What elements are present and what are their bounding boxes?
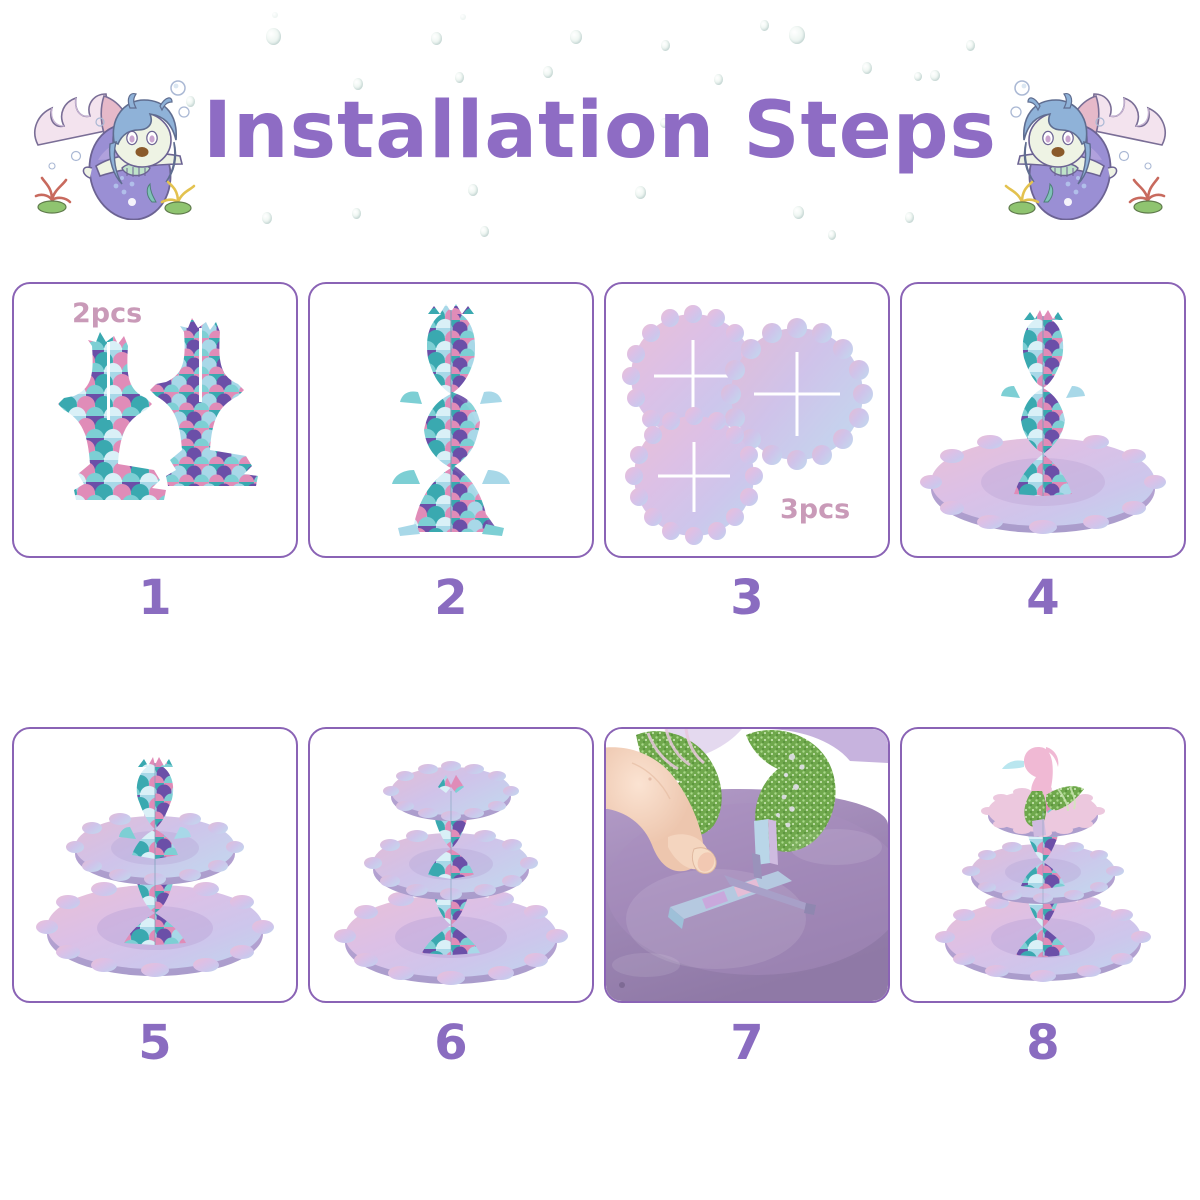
bubble-icon [262, 212, 272, 224]
bubble-icon [714, 74, 723, 85]
bubble-icon [455, 72, 464, 83]
bubble-icon [635, 186, 646, 199]
bubble-icon [862, 62, 872, 74]
step-5-card[interactable] [12, 727, 298, 1003]
column-on-base-plate-illustration [902, 284, 1184, 556]
bubble-icon [930, 70, 940, 81]
bubble-icon [266, 28, 281, 45]
bubble-icon [460, 14, 466, 20]
bubble-icon [661, 40, 670, 51]
two-column-pieces-illustration [14, 284, 296, 556]
bubble-icon [760, 20, 769, 31]
two-tier-stand-illustration [14, 729, 296, 1001]
step-8-number: 8 [900, 1019, 1186, 1067]
page-header: Installation Steps [0, 0, 1200, 270]
bubble-icon [272, 12, 278, 18]
step-4-card[interactable] [900, 282, 1186, 558]
bubble-icon [966, 40, 975, 51]
step-6-cell: 6 [308, 727, 594, 1003]
step-7-card[interactable] [604, 727, 890, 1003]
bubble-icon [543, 66, 553, 78]
bubble-icon [480, 226, 489, 237]
step-1-card[interactable]: 2pcs [12, 282, 298, 558]
bubble-icon [352, 208, 361, 219]
step-3-number: 3 [604, 574, 890, 622]
hand-inserting-topper-photo [606, 729, 888, 1001]
bubble-icon [828, 230, 836, 240]
bubble-icon [468, 184, 478, 196]
bubble-icon [789, 26, 805, 44]
bubble-icon [914, 72, 922, 81]
step-6-number: 6 [308, 1019, 594, 1067]
step-2-card[interactable] [308, 282, 594, 558]
bubble-icon [793, 206, 804, 219]
step-4-number: 4 [900, 574, 1186, 622]
step-1-cell: 2pcs 1 [12, 282, 298, 558]
step-3-card[interactable]: 3pcs [604, 282, 890, 558]
step-2-number: 2 [308, 574, 594, 622]
installation-steps-page: Installation Steps [0, 0, 1200, 1200]
step-5-cell: 5 [12, 727, 298, 1003]
bubble-icon [905, 212, 914, 223]
step-5-number: 5 [12, 1019, 298, 1067]
step-7-cell: 7 [604, 727, 890, 1003]
bubble-icon [431, 32, 442, 45]
step-6-card[interactable] [308, 727, 594, 1003]
step-3-pcs-label: 3pcs [780, 496, 850, 523]
finished-stand-illustration [902, 729, 1184, 1001]
page-title: Installation Steps [0, 92, 1200, 170]
assembled-column-illustration [310, 284, 592, 556]
step-7-number: 7 [604, 1019, 890, 1067]
step-4-cell: 4 [900, 282, 1186, 558]
step-8-card[interactable] [900, 727, 1186, 1003]
three-tier-stand-illustration [310, 729, 592, 1001]
step-1-pcs-label: 2pcs [72, 300, 142, 327]
bubble-icon [570, 30, 582, 44]
step-3-cell: 3pcs 3 [604, 282, 890, 558]
step-2-cell: 2 [308, 282, 594, 558]
step-1-number: 1 [12, 574, 298, 622]
step-8-cell: 8 [900, 727, 1186, 1003]
